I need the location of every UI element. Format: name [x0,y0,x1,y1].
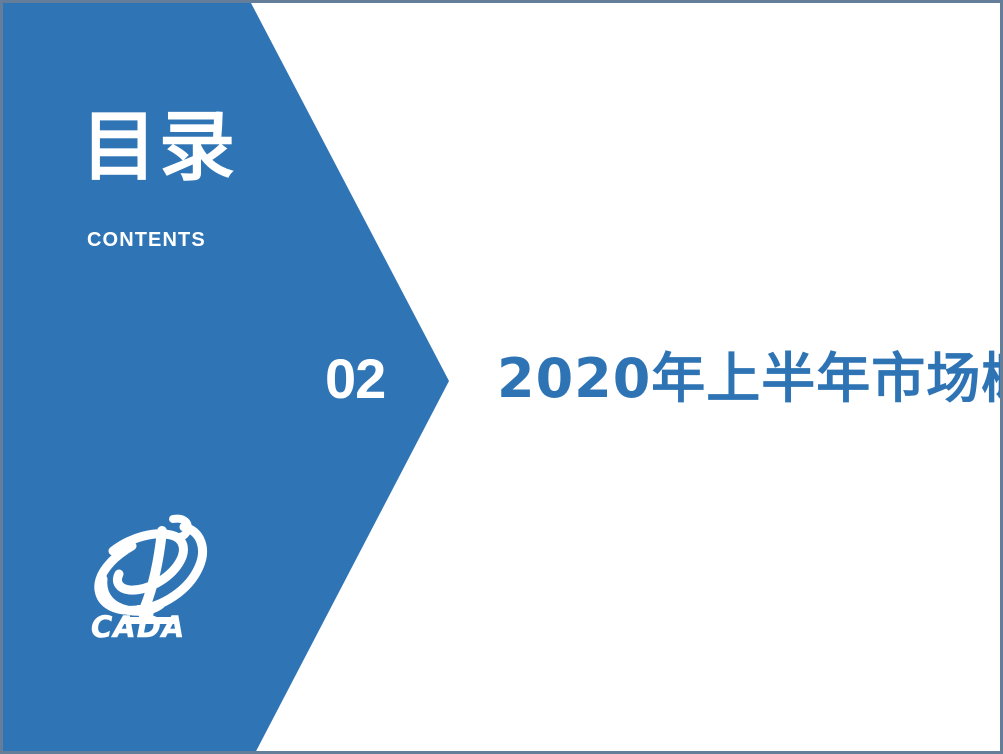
contents-sublabel: CONTENTS [87,229,206,252]
section-number: 02 [325,351,385,407]
page-title: 目录 [81,107,237,188]
section-title: 2020年上半年市场概况 [497,347,1003,411]
cada-wordmark: CADA [91,613,215,642]
slide-canvas: 目录 CONTENTS 02 2020年上半年市场概况 CADA [0,0,1003,754]
cada-logo: CADA [83,505,215,663]
